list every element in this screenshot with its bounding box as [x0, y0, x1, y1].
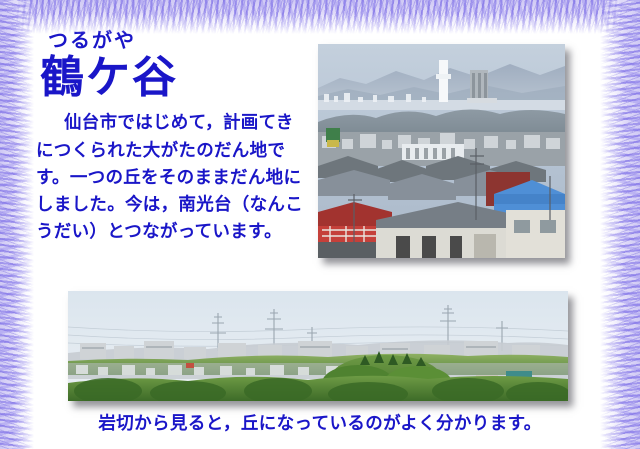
page-root: つるがや 鶴ケ谷 仙台市ではじめて，計画てきにつくられた大がたのだん地です。一つ…	[0, 0, 640, 449]
body-paragraph: 仙台市ではじめて，計画てきにつくられた大がたのだん地です。一つの丘をそのままだん…	[36, 110, 311, 246]
bottom-caption: 岩切から見ると，丘になっているのがよく分かります。	[0, 410, 640, 435]
article-text-column: つるがや 鶴ケ谷 仙台市ではじめて，計画てきにつくられた大がたのだん地です。一つ…	[36, 30, 311, 247]
panorama-photo	[68, 291, 568, 401]
page-furigana: つるがや	[48, 30, 311, 51]
panorama-photo-image	[68, 291, 568, 401]
townscape-photo	[318, 44, 565, 258]
page-title: 鶴ケ谷	[40, 53, 311, 102]
border-right	[600, 0, 640, 449]
townscape-photo-image	[318, 44, 565, 258]
border-left	[0, 0, 34, 449]
